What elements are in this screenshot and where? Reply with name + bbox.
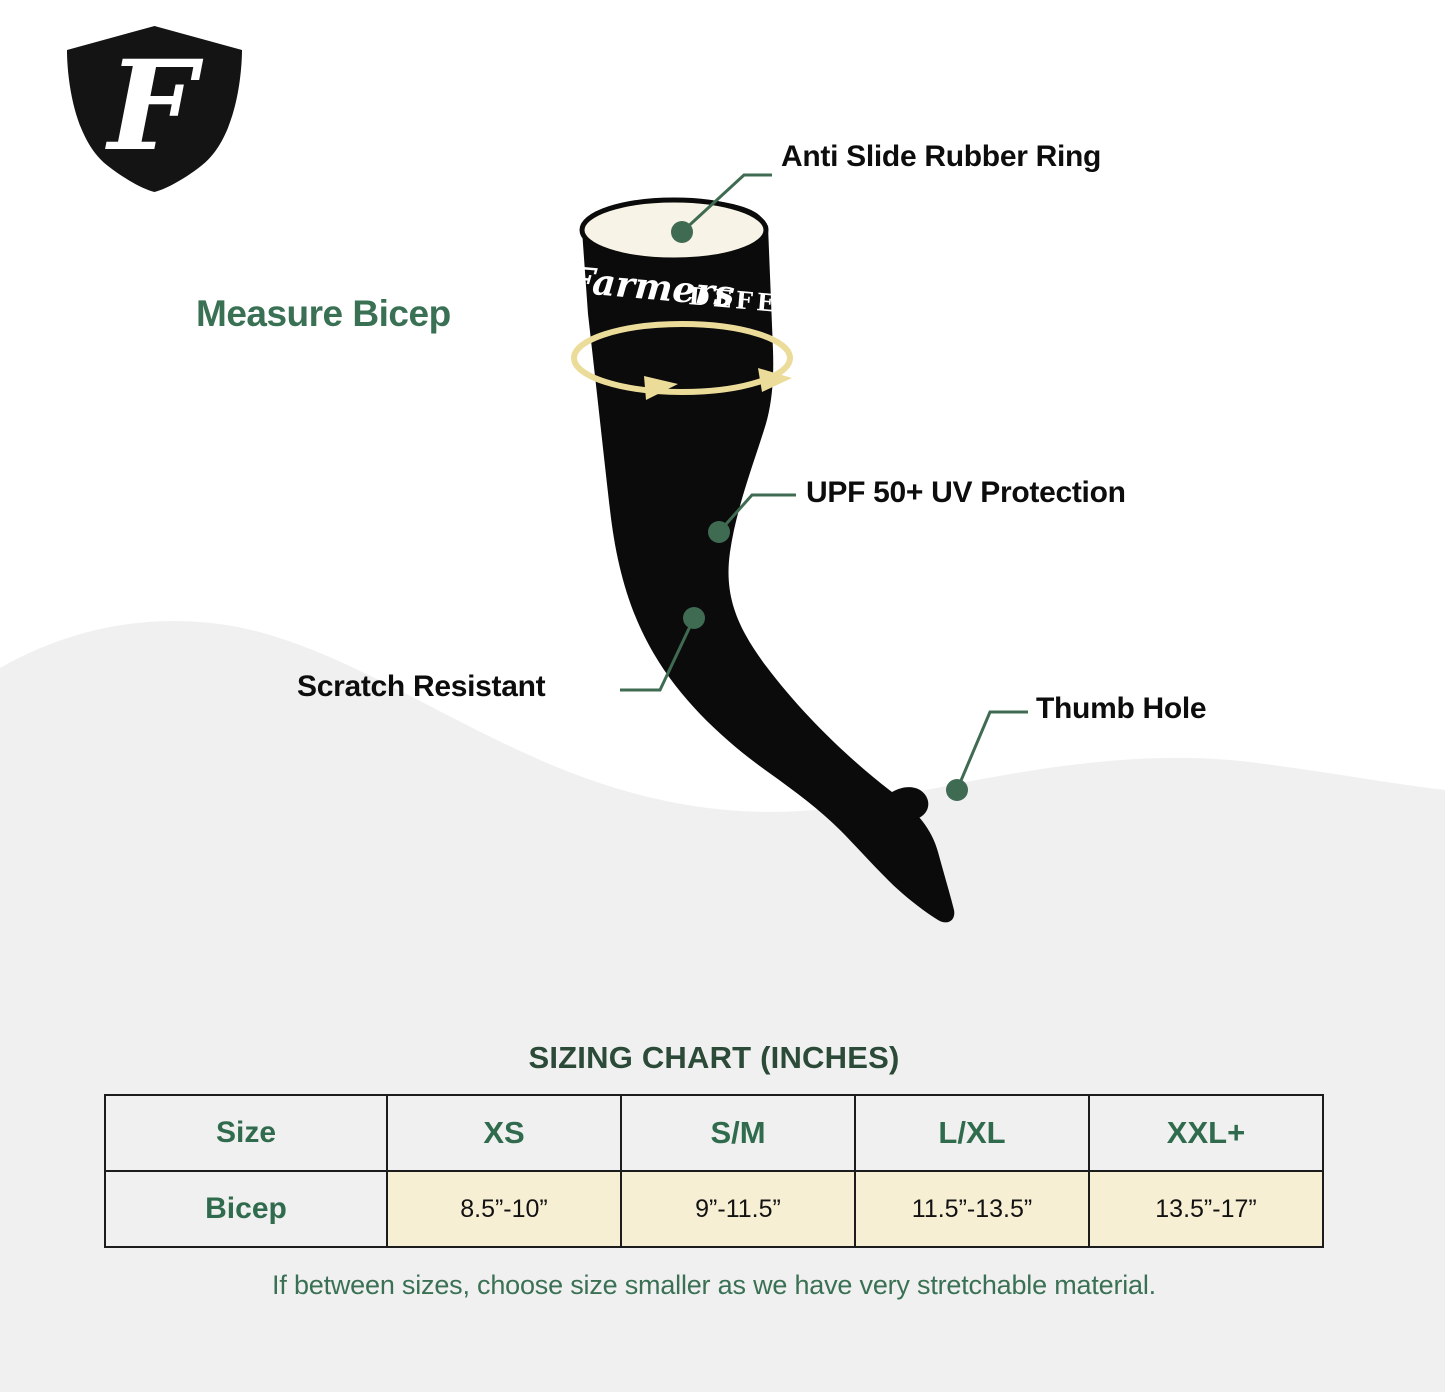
callout-label-anti-slide-rubber-ring: Anti Slide Rubber Ring (781, 140, 1101, 174)
table-cell-bicep-lxl: 11.5”-13.5” (855, 1171, 1089, 1247)
measure-bicep-label: Measure Bicep (196, 293, 451, 335)
sleeve-top-opening (582, 200, 766, 260)
sizing-chart-title: SIZING CHART (INCHES) (104, 1040, 1324, 1076)
table-cell-bicep-xs: 8.5”-10” (387, 1171, 621, 1247)
table-header-sm: S/M (621, 1095, 855, 1171)
table-cell-bicep-sm: 9”-11.5” (621, 1171, 855, 1247)
arm-sleeve-illustration: Farmers DEFENSE (540, 180, 1040, 950)
shield-logo: F (52, 16, 257, 201)
table-header-xxl: XXL+ (1089, 1095, 1323, 1171)
table-rowlabel-bicep: Bicep (105, 1171, 387, 1247)
callout-label-scratch-resistant: Scratch Resistant (297, 670, 545, 704)
table-header-lxl: L/XL (855, 1095, 1089, 1171)
table-header-xs: XS (387, 1095, 621, 1171)
measure-arrow-right (758, 368, 792, 392)
callout-label-thumb-hole: Thumb Hole (1036, 692, 1206, 726)
sizing-chart-section: SIZING CHART (INCHES) Size XS S/M L/XL X… (104, 1040, 1324, 1301)
infographic-page: F Farmers DEFENSE (0, 0, 1445, 1392)
sizing-chart-note: If between sizes, choose size smaller as… (104, 1270, 1324, 1301)
sizing-table: Size XS S/M L/XL XXL+ Bicep 8.5”-10” 9”-… (104, 1094, 1324, 1248)
table-cell-bicep-xxl: 13.5”-17” (1089, 1171, 1323, 1247)
table-row-header: Size XS S/M L/XL XXL+ (105, 1095, 1323, 1171)
table-header-size: Size (105, 1095, 387, 1171)
table-row-bicep: Bicep 8.5”-10” 9”-11.5” 11.5”-13.5” 13.5… (105, 1171, 1323, 1247)
shield-letter: F (105, 34, 204, 179)
callout-label-upf-uv-protection: UPF 50+ UV Protection (806, 476, 1126, 510)
